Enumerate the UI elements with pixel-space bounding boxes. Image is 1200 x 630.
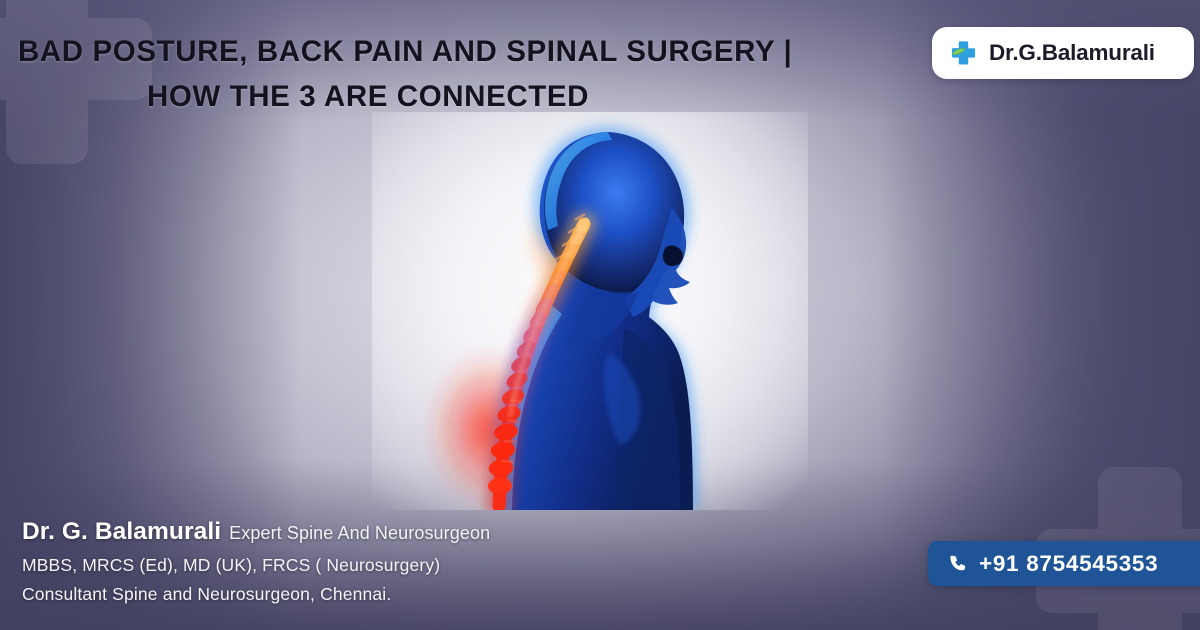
headline: BAD POSTURE, BACK PAIN AND SPINAL SURGER… — [18, 30, 908, 120]
credentials-name-row: Dr. G. Balamurali Expert Spine And Neuro… — [22, 518, 712, 546]
doctor-role: Expert Spine And Neurosurgeon — [229, 523, 490, 544]
phone-handset-icon — [949, 554, 968, 573]
promo-banner: BAD POSTURE, BACK PAIN AND SPINAL SURGER… — [0, 0, 1200, 630]
headline-line-2: HOW THE 3 ARE CONNECTED — [18, 75, 908, 120]
doctor-qualifications: MBBS, MRCS (Ed), MD (UK), FRCS ( Neurosu… — [22, 551, 712, 579]
hero-spine-illustration — [372, 112, 808, 510]
medical-cross-leaf-icon — [949, 39, 978, 68]
anatomy-figure-svg — [372, 112, 808, 510]
phone-number: +91 8754545353 — [979, 551, 1158, 577]
doctor-name: Dr. G. Balamurali — [22, 518, 221, 546]
doctor-credentials: Dr. G. Balamurali Expert Spine And Neuro… — [22, 518, 712, 608]
brand-name: Dr.G.Balamurali — [989, 40, 1155, 66]
phone-contact-badge[interactable]: +91 8754545353 — [928, 541, 1200, 586]
headline-line-1: BAD POSTURE, BACK PAIN AND SPINAL SURGER… — [18, 30, 908, 75]
brand-logo[interactable]: Dr.G.Balamurali — [932, 27, 1194, 79]
doctor-position: Consultant Spine and Neurosurgeon, Chenn… — [22, 580, 712, 608]
